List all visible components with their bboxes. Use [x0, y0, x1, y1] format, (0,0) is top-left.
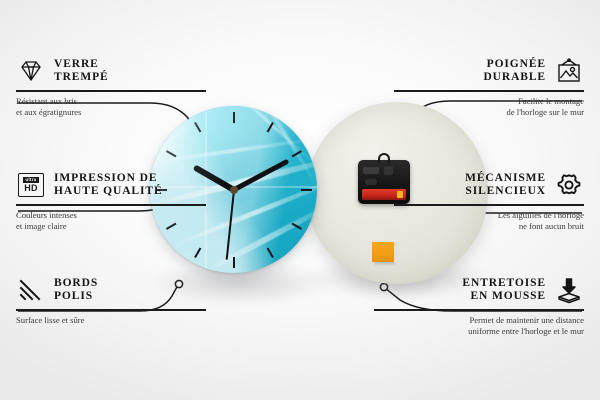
mechanism-detail [384, 166, 393, 175]
feature-title: BORDSPOLIS [54, 277, 98, 304]
feather-streak [192, 197, 317, 273]
polished-edges-icon [16, 275, 46, 305]
mechanism-detail [365, 179, 377, 185]
diamond-icon [16, 56, 46, 86]
infographic-canvas: VERRETREMPÉ Résistant aux briset aux égr… [0, 0, 600, 400]
hanging-loop-icon [378, 153, 390, 163]
feature-header: ENTRETOISEEN MOUSSE [374, 275, 584, 305]
feature-description: Les aiguilles de l'horlogene font aucun … [394, 210, 584, 232]
feature-description: Facilite le montagede l'horloge sur le m… [394, 96, 584, 118]
feature-divider [16, 90, 206, 92]
feature-title: ENTRETOISEEN MOUSSE [462, 277, 546, 304]
feature-description: Résistant aux briset aux égratignures [16, 96, 206, 118]
feature-title: MÉCANISMESILENCIEUX [465, 172, 546, 199]
ultra-hd-badge-icon: ultra HD [16, 170, 46, 200]
feature-title: VERRETREMPÉ [54, 58, 109, 85]
picture-frame-hanger-icon [554, 56, 584, 86]
mechanism-detail [363, 167, 379, 174]
feature-divider [16, 204, 206, 206]
feature-divider [394, 204, 584, 206]
feature-header: VERRETREMPÉ [16, 56, 206, 86]
gear-icon [554, 170, 584, 200]
hour-marker [234, 189, 312, 191]
feature-divider [394, 90, 584, 92]
hand-cap [230, 186, 238, 194]
feature-bords-polis: BORDSPOLIS Surface lisse et sûre [16, 275, 206, 326]
feature-mecanisme-silencieux: MÉCANISMESILENCIEUX Les aiguilles de l'h… [394, 170, 584, 232]
feature-header: MÉCANISMESILENCIEUX [394, 170, 584, 200]
hour-marker [233, 112, 235, 190]
feature-entretoise-en-mousse: ENTRETOISEEN MOUSSE Permet de maintenir … [374, 275, 584, 337]
feature-header: BORDSPOLIS [16, 275, 206, 305]
feature-verre-trempe: VERRETREMPÉ Résistant aux briset aux égr… [16, 56, 206, 118]
feature-description: Surface lisse et sûre [16, 315, 206, 326]
ultra-hd-badge-main: HD [24, 183, 37, 193]
feature-divider [16, 309, 206, 311]
foam-spacer [372, 242, 394, 262]
feature-description: Couleurs intenseset image claire [16, 210, 206, 232]
feature-poignee-durable: POIGNÉEDURABLE Facilite le montagede l'h… [394, 56, 584, 118]
foam-spacer-press-icon [554, 275, 584, 305]
feature-description: Permet de maintenir une distanceuniforme… [374, 315, 584, 337]
feature-header: POIGNÉEDURABLE [394, 56, 584, 86]
feature-divider [374, 309, 584, 311]
feature-impression-haute-qualite: ultra HD IMPRESSION DEHAUTE QUALITÉ Coul… [16, 170, 206, 232]
feature-title: IMPRESSION DEHAUTE QUALITÉ [54, 172, 163, 199]
feature-header: ultra HD IMPRESSION DEHAUTE QUALITÉ [16, 170, 206, 200]
feature-title: POIGNÉEDURABLE [483, 58, 546, 85]
